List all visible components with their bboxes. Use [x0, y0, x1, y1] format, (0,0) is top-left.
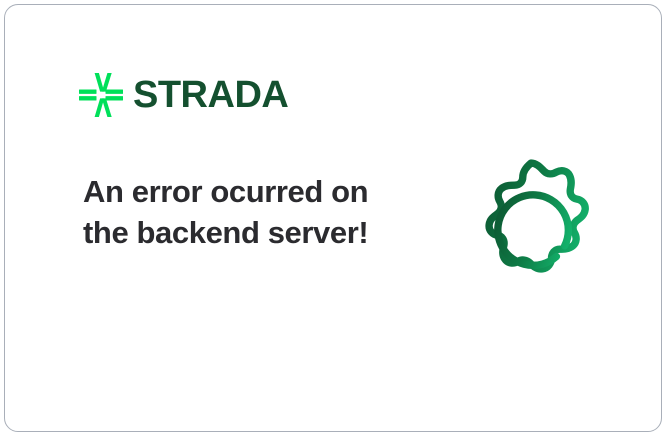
- error-card: STRADA An error ocurred on the backend s…: [4, 4, 662, 432]
- gear-icon: [449, 145, 613, 309]
- brand-wordmark: STRADA: [133, 76, 288, 114]
- brand-lockup: STRADA: [79, 73, 288, 117]
- strada-asterisk-icon: [79, 73, 123, 117]
- error-message: An error ocurred on the backend server!: [83, 171, 383, 253]
